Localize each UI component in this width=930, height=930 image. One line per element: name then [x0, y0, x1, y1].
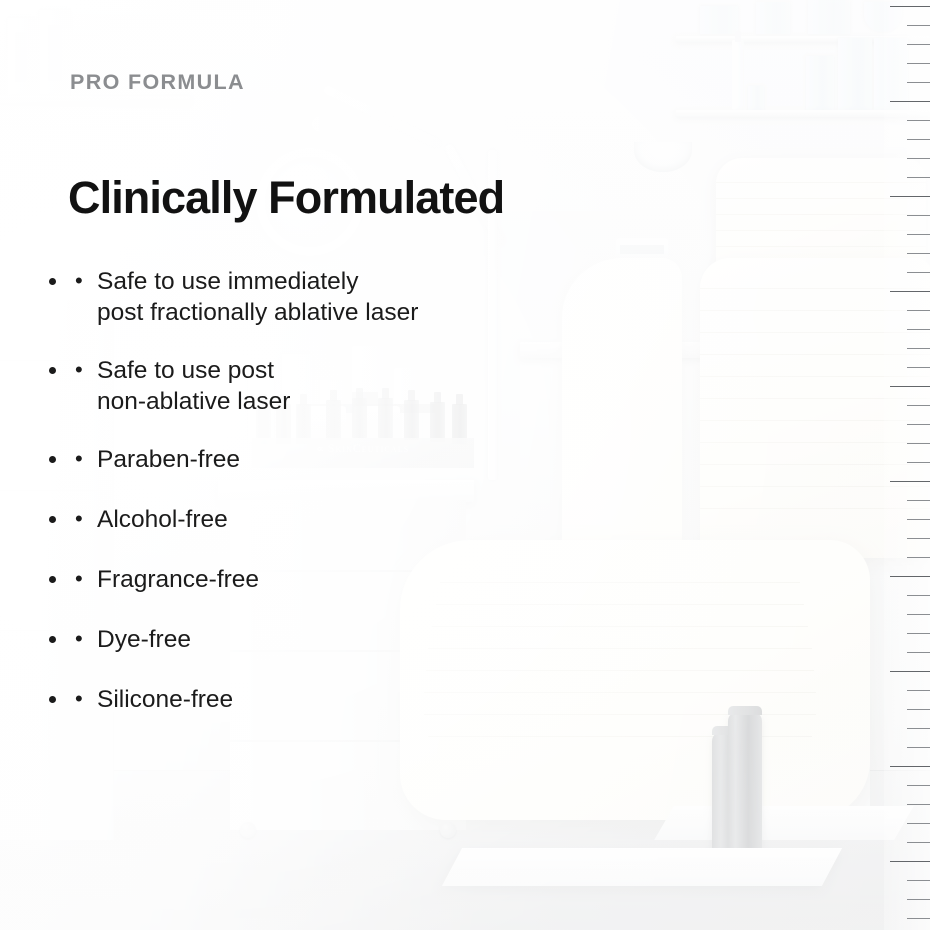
creative-canvas: ∝SkinCeuticals: [0, 0, 930, 930]
text-layer: PRO FORMULA Clinically Formulated Safe t…: [0, 0, 930, 930]
list-item: Silicone-free: [70, 684, 540, 715]
list-item: Paraben-free: [70, 444, 540, 475]
list-item: Fragrance-free: [70, 564, 540, 595]
list-item: Dye-free: [70, 624, 540, 655]
eyebrow-label: PRO FORMULA: [70, 70, 245, 95]
list-item: Alcohol-free: [70, 504, 540, 535]
list-item: Safe to use post non-ablative laser: [70, 355, 540, 417]
feature-list: Safe to use immediately post fractionall…: [70, 266, 540, 744]
page-title: Clinically Formulated: [68, 172, 504, 224]
list-item: Safe to use immediately post fractionall…: [70, 266, 540, 328]
